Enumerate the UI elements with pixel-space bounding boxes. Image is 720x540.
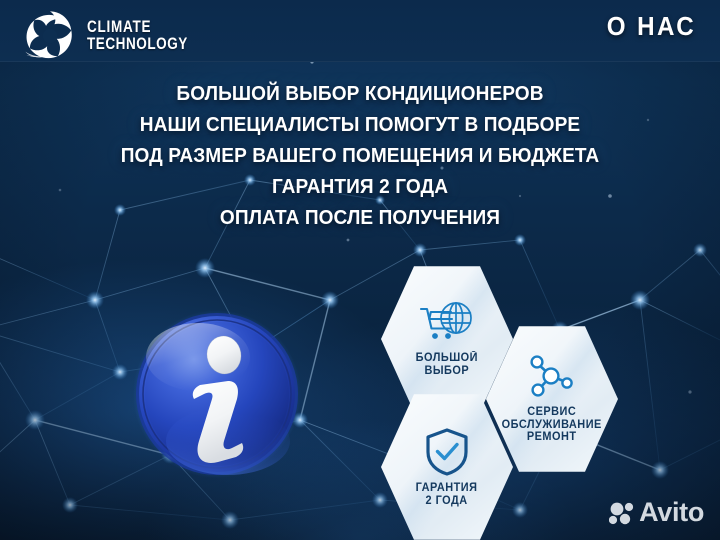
- promo-banner: CLIMATE TECHNOLOGY О НАС БОЛЬШОЙ ВЫБОР К…: [0, 0, 720, 540]
- avito-watermark: Avito: [609, 497, 704, 528]
- badge-label: ГАРАНТИЯ 2 ГОДА: [416, 482, 478, 508]
- brand-name: CLIMATE TECHNOLOGY: [87, 19, 188, 53]
- avito-dots-icon: [609, 501, 635, 525]
- shield-check-icon: [424, 427, 470, 477]
- headline-line-1: БОЛЬШОЙ ВЫБОР КОНДИЦИОНЕРОВ: [25, 84, 695, 105]
- badge-label: БОЛЬШОЙ ВЫБОР: [416, 352, 478, 378]
- badge-label-line2: 2 ГОДА: [416, 495, 478, 508]
- network-nodes-icon: [526, 354, 578, 400]
- badge-label-line1: СЕРВИС: [502, 406, 602, 419]
- headline-block: БОЛЬШОЙ ВЫБОР КОНДИЦИОНЕРОВ НАШИ СПЕЦИАЛ…: [0, 84, 720, 239]
- header-bar: CLIMATE TECHNOLOGY О НАС: [0, 0, 720, 62]
- badge-label-line1: ГАРАНТИЯ: [416, 482, 478, 495]
- shopping-cart-globe-icon: [418, 300, 476, 346]
- brand-name-line2: TECHNOLOGY: [87, 36, 188, 53]
- avito-wordmark: Avito: [639, 497, 704, 528]
- brand-name-line1: CLIMATE: [87, 19, 188, 36]
- swirl-fan-logo-icon: [22, 8, 78, 64]
- badge-label-line2: ВЫБОР: [416, 365, 478, 378]
- badge-label-line3: РЕМОНТ: [502, 431, 602, 444]
- brand-logo[interactable]: CLIMATE TECHNOLOGY: [22, 8, 210, 64]
- network-constellation-background: [0, 0, 720, 540]
- headline-line-3: ПОД РАЗМЕР ВАШЕГО ПОМЕЩЕНИЯ И БЮДЖЕТА: [25, 146, 695, 167]
- information-sphere-icon: [132, 309, 302, 479]
- headline-line-5: ОПЛАТА ПОСЛЕ ПОЛУЧЕНИЯ: [25, 208, 695, 229]
- badge-label: СЕРВИС ОБСЛУЖИВАНИЕ РЕМОНТ: [502, 406, 602, 445]
- page-title: О НАС: [607, 11, 696, 42]
- headline-line-2: НАШИ СПЕЦИАЛИСТЫ ПОМОГУТ В ПОДБОРЕ: [25, 115, 695, 136]
- headline-line-4: ГАРАНТИЯ 2 ГОДА: [25, 177, 695, 198]
- badge-label-line2: ОБСЛУЖИВАНИЕ: [502, 419, 602, 432]
- badge-label-line1: БОЛЬШОЙ: [416, 352, 478, 365]
